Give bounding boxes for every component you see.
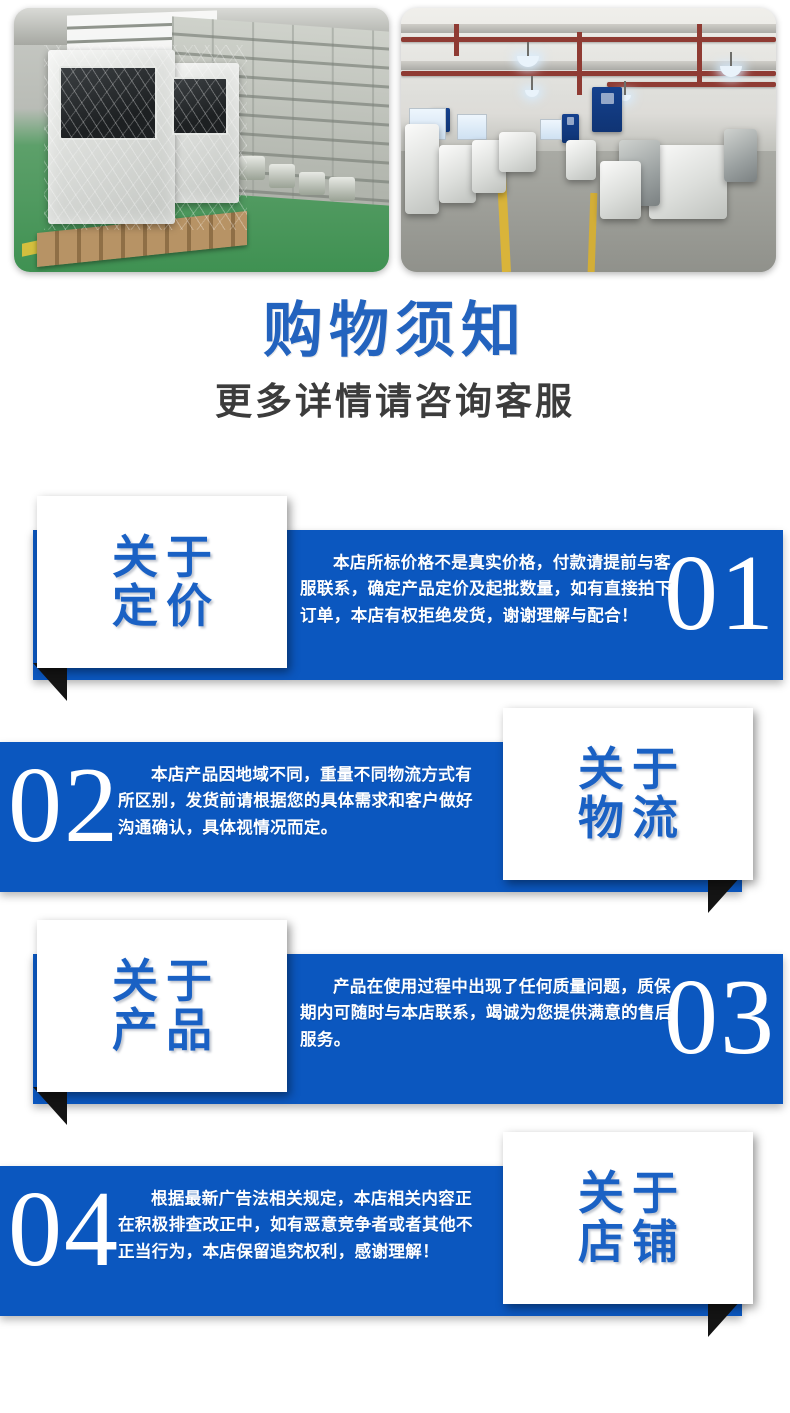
ribbon-fold-corner-icon (33, 1087, 67, 1125)
notice-body-text: 产品在使用过程中出现了任何质量问题，质保期内可随时与本店联系，竭诚为您提供满意的… (300, 974, 680, 1054)
notice-number: 03 (664, 964, 776, 1072)
photo-machine (405, 124, 439, 214)
notice-block-03: 关于 产品 03 产品在使用过程中出现了任何质量问题，质保期内可随时与本店联系，… (0, 912, 790, 1124)
photo-container (269, 164, 295, 188)
photo-window (457, 114, 487, 140)
photo-container (299, 172, 325, 196)
warehouse-photo (14, 8, 389, 272)
notice-label-card: 关于 店铺 (503, 1132, 753, 1304)
photo-window (540, 119, 563, 140)
notice-label-line2: 定价 (112, 582, 220, 630)
photo-pipe (454, 24, 459, 56)
notice-body-text: 本店所标价格不是真实价格，付款请提前与客服联系，确定产品定价及起批数量，如有直接… (300, 550, 680, 630)
notice-label: 关于 物流 (570, 745, 686, 842)
notice-label: 关于 定价 (104, 533, 220, 630)
notice-label-line2: 物流 (578, 794, 686, 842)
page-title: 购物须知 (0, 298, 790, 365)
photo-hanging-banner (562, 114, 579, 143)
photo-machine (499, 132, 537, 172)
photo-hanging-banner (592, 87, 622, 132)
notice-number: 04 (8, 1176, 120, 1284)
notice-label-line1: 关于 (112, 954, 220, 1008)
notice-body-text: 根据最新广告法相关规定，本店相关内容正在积极排查改正中，如有恶意竞争者或者其他不… (118, 1186, 488, 1266)
notice-label: 关于 店铺 (570, 1169, 686, 1266)
ribbon-fold-corner-icon (708, 875, 742, 913)
photo-machine (724, 129, 758, 182)
section-heading: 购物须知 更多详情请咨询客服 (0, 272, 790, 424)
notice-list: 关于 定价 01 本店所标价格不是真实价格，付款请提前与客服联系，确定产品定价及… (0, 488, 790, 1336)
notice-label-card: 关于 定价 (37, 496, 287, 668)
photo-pipe (697, 24, 702, 82)
photo-pipe (401, 71, 776, 76)
notice-number: 01 (664, 540, 776, 648)
notice-label-card: 关于 物流 (503, 708, 753, 880)
notice-label-line1: 关于 (578, 742, 686, 796)
notice-label-line2: 产品 (112, 1006, 220, 1054)
photo-pipe (577, 32, 582, 95)
notice-label-card: 关于 产品 (37, 920, 287, 1092)
notice-label: 关于 产品 (104, 957, 220, 1054)
photo-pipe (607, 82, 776, 87)
notice-label-line1: 关于 (578, 1166, 686, 1220)
notice-number: 02 (8, 752, 120, 860)
ribbon-fold-corner-icon (33, 663, 67, 701)
photo-machine (566, 140, 596, 180)
ribbon-fold-corner-icon (708, 1299, 742, 1337)
notice-block-01: 关于 定价 01 本店所标价格不是真实价格，付款请提前与客服联系，确定产品定价及… (0, 488, 790, 700)
photo-machine (600, 161, 641, 219)
page-subtitle: 更多详情请咨询客服 (0, 381, 790, 424)
notice-label-line2: 店铺 (578, 1218, 686, 1266)
photo-machine (649, 145, 728, 219)
notice-block-04: 关于 店铺 04 根据最新广告法相关规定，本店相关内容正在积极排查改正中，如有恶… (0, 1124, 790, 1336)
photo-machine (439, 145, 477, 203)
factory-floor-photo (401, 8, 776, 272)
notice-block-02: 关于 物流 02 本店产品因地域不同，重量不同物流方式有所区别，发货前请根据您的… (0, 700, 790, 912)
notice-label-line1: 关于 (112, 530, 220, 584)
photo-container (329, 177, 355, 201)
photo-gallery (0, 0, 790, 272)
photo-stretch-wrap (44, 45, 247, 230)
notice-body-text: 本店产品因地域不同，重量不同物流方式有所区别，发货前请根据您的具体需求和客户做好… (118, 762, 488, 842)
